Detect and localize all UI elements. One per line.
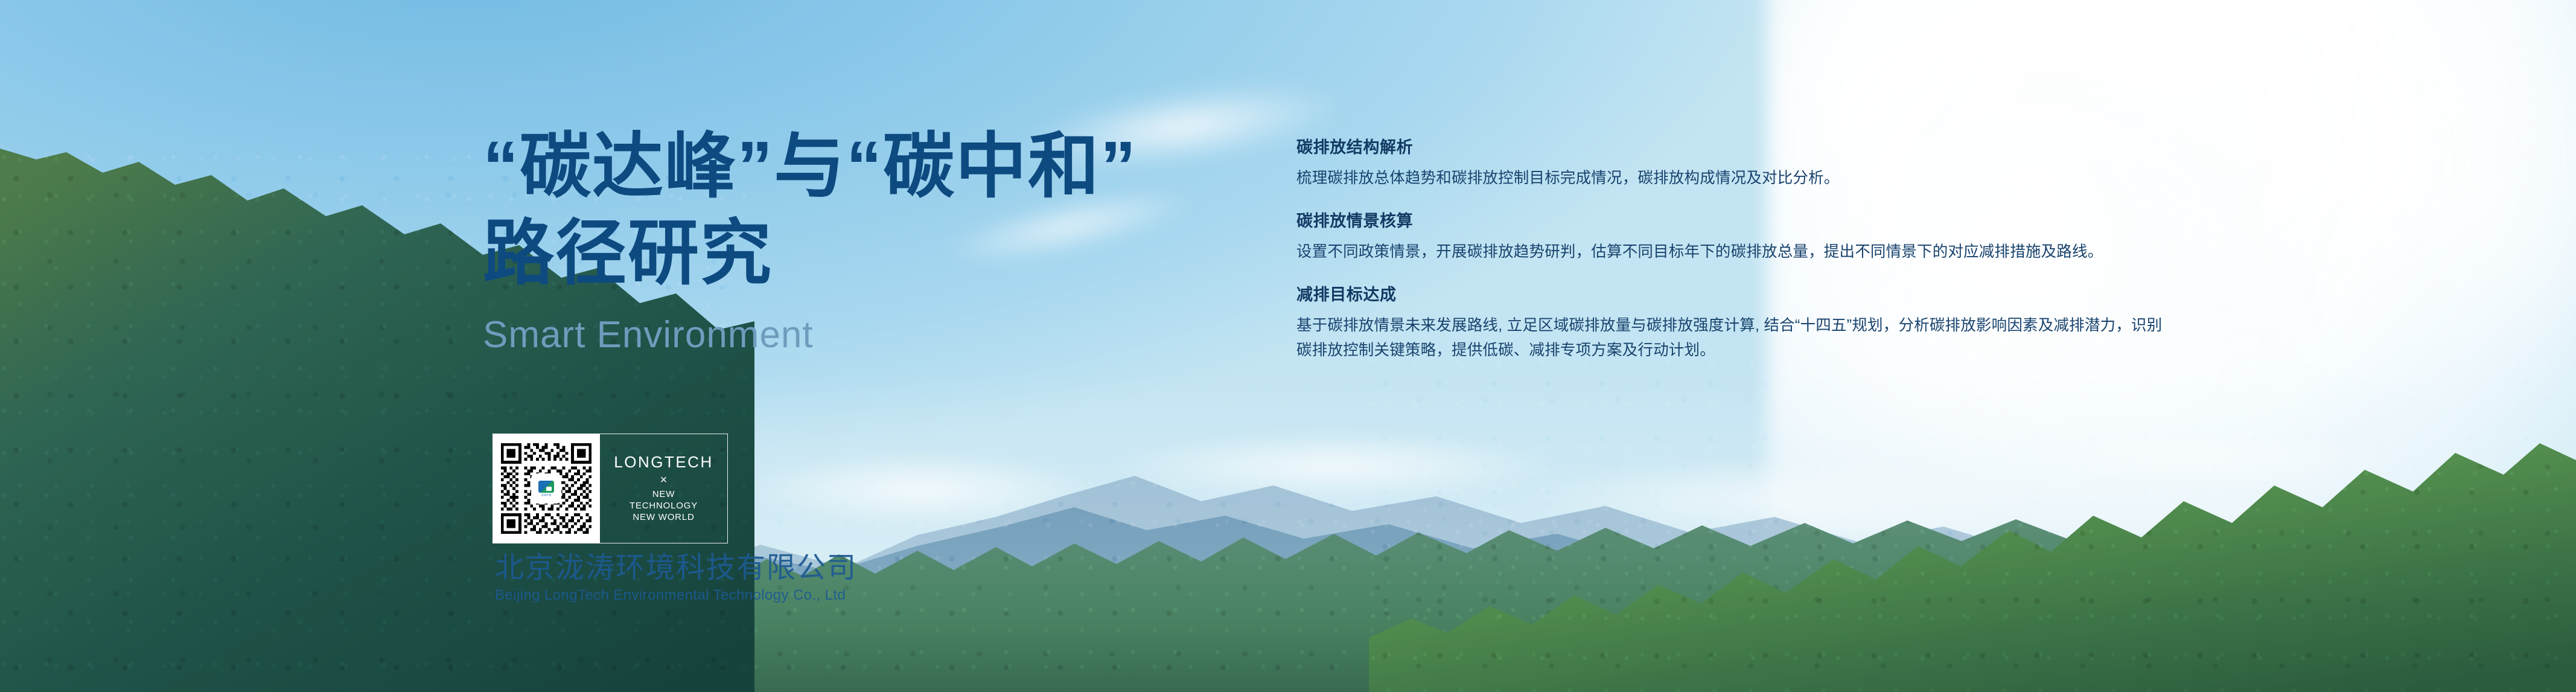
feature-section: 碳排放情景核算 设置不同政策情景，开展碳排放趋势研判，估算不同目标年下的碳排放总… <box>1296 211 2172 264</box>
qr-contact-card[interactable]: 泷涛环境 LONGTECH × NEW TECHNOLOGY NEW WORLD <box>493 434 728 543</box>
qr-code-panel[interactable]: 泷涛环境 <box>493 434 600 543</box>
qr-center-logo: 泷涛环境 <box>532 475 560 502</box>
company-identity: 北京泷涛环境科技有限公司 Beijing LongTech Environmen… <box>495 553 857 604</box>
feature-section: 碳排放结构解析 梳理碳排放总体趋势和碳排放控制目标完成情况，碳排放构成情况及对比… <box>1296 138 2172 191</box>
longtech-logo-mark <box>538 481 554 493</box>
feature-section: 减排目标达成 基于碳排放情景未来发展路线, 立足区域碳排放量与碳排放强度计算, … <box>1296 285 2172 363</box>
hero-banner: “碳达峰”与“碳中和” 路径研究 Smart Environment <box>0 0 2576 692</box>
cross-icon: × <box>660 474 668 486</box>
logo-text: 泷涛环境 <box>541 494 552 496</box>
section-body: 基于碳排放情景未来发展路线, 立足区域碳排放量与碳排放强度计算, 结合“十四五”… <box>1296 313 2172 364</box>
brand-name: LONGTECH <box>614 453 713 471</box>
section-body: 设置不同政策情景，开展碳排放趋势研判，估算不同目标年下的碳排放总量，提出不同情景… <box>1296 240 2172 264</box>
page-subtitle: Smart Environment <box>483 315 1207 356</box>
hero-text-block: “碳达峰”与“碳中和” 路径研究 Smart Environment <box>483 124 1207 356</box>
page-title: “碳达峰”与“碳中和” 路径研究 <box>483 124 1207 298</box>
feature-sections: 碳排放结构解析 梳理碳排放总体趋势和碳排放控制目标完成情况，碳排放构成情况及对比… <box>1296 138 2172 363</box>
qr-slogan-panel: LONGTECH × NEW TECHNOLOGY NEW WORLD <box>600 434 728 543</box>
tagline-line-1: NEW <box>652 489 675 500</box>
tagline-line-3: NEW WORLD <box>633 511 694 523</box>
section-body: 梳理碳排放总体趋势和碳排放控制目标完成情况，碳排放构成情况及对比分析。 <box>1296 166 2172 191</box>
title-line-1: “碳达峰”与“碳中和” <box>483 127 1137 207</box>
title-line-2: 路径研究 <box>483 211 1207 298</box>
tagline-line-2: TECHNOLOGY <box>630 500 698 511</box>
section-heading: 碳排放情景核算 <box>1296 211 2172 232</box>
qr-code-image[interactable]: 泷涛环境 <box>498 440 595 537</box>
company-name-cn: 北京泷涛环境科技有限公司 <box>495 553 857 585</box>
company-name-en: Beijing LongTech Environmental Technolog… <box>495 587 857 604</box>
forest-right <box>1369 354 2576 692</box>
section-heading: 减排目标达成 <box>1296 285 2172 306</box>
section-heading: 碳排放结构解析 <box>1296 138 2172 158</box>
